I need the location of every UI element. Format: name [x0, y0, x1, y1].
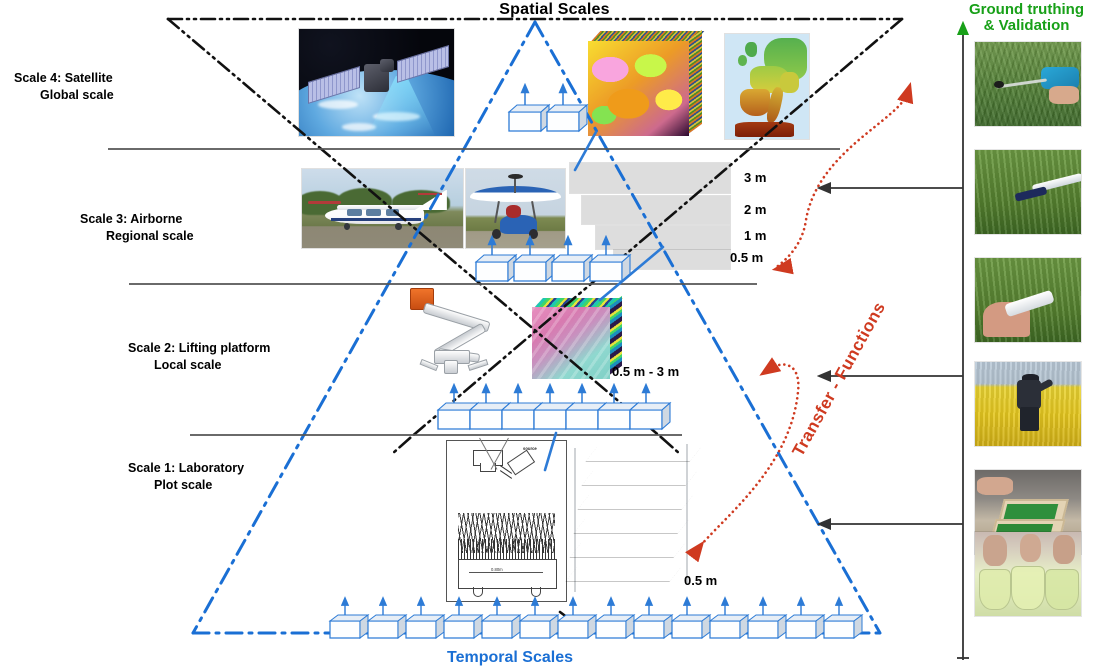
temporal-cube — [482, 601, 520, 638]
temporal-cube — [596, 601, 634, 638]
temporal-cube — [558, 601, 596, 638]
temporal-cube — [786, 601, 824, 638]
transfer-arrow-upper — [775, 92, 908, 269]
cube-row-scale2 — [438, 388, 670, 429]
temporal-cube — [590, 240, 630, 281]
temporal-cube — [406, 601, 444, 638]
temporal-cube — [368, 601, 406, 638]
temporal-cube — [509, 88, 549, 131]
temporal-trapezoid-legs — [392, 438, 680, 618]
temporal-cube — [710, 601, 748, 638]
temporal-cube — [672, 601, 710, 638]
temporal-cube — [514, 240, 554, 281]
vector-overlay — [0, 0, 1109, 672]
cube-row-scale1 — [330, 601, 862, 638]
temporal-cube — [476, 240, 516, 281]
temporal-cube — [520, 601, 558, 638]
temporal-cube — [824, 601, 862, 638]
cube-row-scale3 — [476, 240, 630, 281]
temporal-cube — [630, 388, 670, 429]
ground-truthing-axis — [824, 28, 969, 660]
temporal-cube — [444, 601, 482, 638]
temporal-cube — [547, 88, 587, 131]
temporal-cube — [748, 601, 786, 638]
transfer-arrow-lower — [698, 365, 798, 549]
scale-divider-lines — [108, 149, 840, 435]
temporal-cube — [330, 601, 368, 638]
connector-satellite-to-airborne — [575, 132, 596, 170]
diagram-canvas: Spatial Scales Temporal Scales Ground tr… — [0, 0, 1109, 672]
connector-platform-to-lab — [545, 433, 556, 470]
temporal-trapezoid-frame — [168, 19, 902, 438]
temporal-cube — [552, 240, 592, 281]
temporal-cube — [634, 601, 672, 638]
